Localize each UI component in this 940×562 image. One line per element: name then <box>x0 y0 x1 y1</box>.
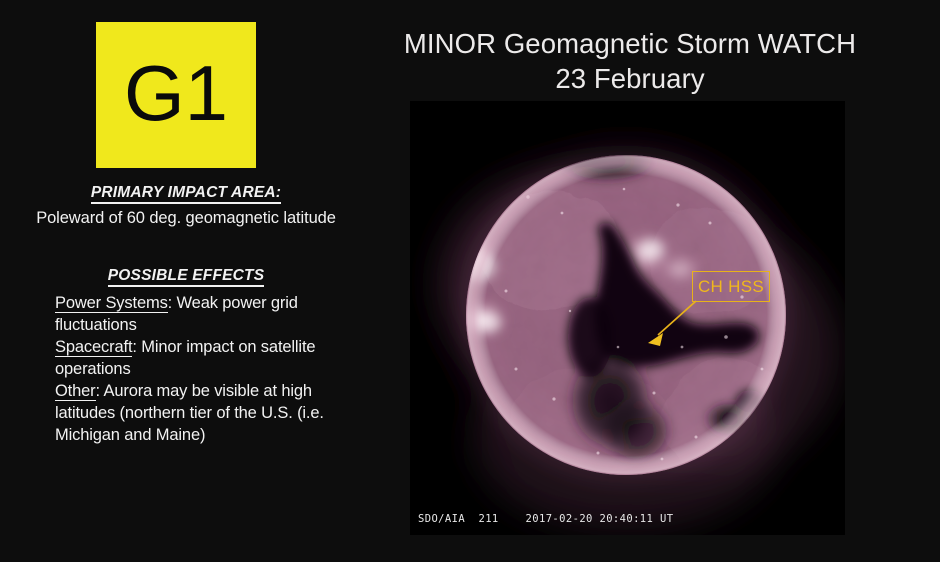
effect-label-other: Other <box>55 382 96 401</box>
effect-sep-spacecraft: : <box>132 338 141 356</box>
effect-label-power-systems: Power Systems <box>55 294 168 313</box>
title-line-2: 23 February <box>360 61 900 96</box>
effect-item-power-systems: Power Systems: Weak power grid fluctuati… <box>55 293 355 337</box>
effect-sep-other: : <box>96 382 104 400</box>
title-line-1: MINOR Geomagnetic Storm WATCH <box>360 26 900 61</box>
effect-label-spacecraft: Spacecraft <box>55 338 132 357</box>
ch-hss-label: CH HSS <box>698 278 764 295</box>
primary-impact-value: Poleward of 60 deg. geomagnetic latitude <box>0 209 372 228</box>
sun-disk-image <box>410 101 845 535</box>
possible-effects-heading: POSSIBLE EFFECTS <box>0 267 372 285</box>
effect-item-spacecraft: Spacecraft: Minor impact on satellite op… <box>55 337 355 381</box>
impact-info-column: PRIMARY IMPACT AREA: Poleward of 60 deg.… <box>0 184 372 447</box>
storm-level-badge: G1 <box>96 22 256 168</box>
primary-impact-heading-text: PRIMARY IMPACT AREA: <box>91 184 281 204</box>
storm-level-label: G1 <box>124 54 228 132</box>
effect-sep-power-systems: : <box>168 294 177 312</box>
ch-hss-callout: CH HSS <box>692 271 770 302</box>
solar-image-panel: CH HSS SDO/AIA 211 2017-02-20 20:40:11 U… <box>410 101 845 535</box>
solar-image-caption: SDO/AIA 211 2017-02-20 20:40:11 UT <box>418 513 673 525</box>
possible-effects-list: Power Systems: Weak power grid fluctuati… <box>55 293 355 447</box>
storm-watch-slide: G1 MINOR Geomagnetic Storm WATCH 23 Febr… <box>0 0 940 562</box>
effect-item-other: Other: Aurora may be visible at high lat… <box>55 381 355 447</box>
primary-impact-heading: PRIMARY IMPACT AREA: <box>0 184 372 202</box>
page-title: MINOR Geomagnetic Storm WATCH 23 Februar… <box>360 26 900 96</box>
possible-effects-heading-text: POSSIBLE EFFECTS <box>108 267 265 287</box>
